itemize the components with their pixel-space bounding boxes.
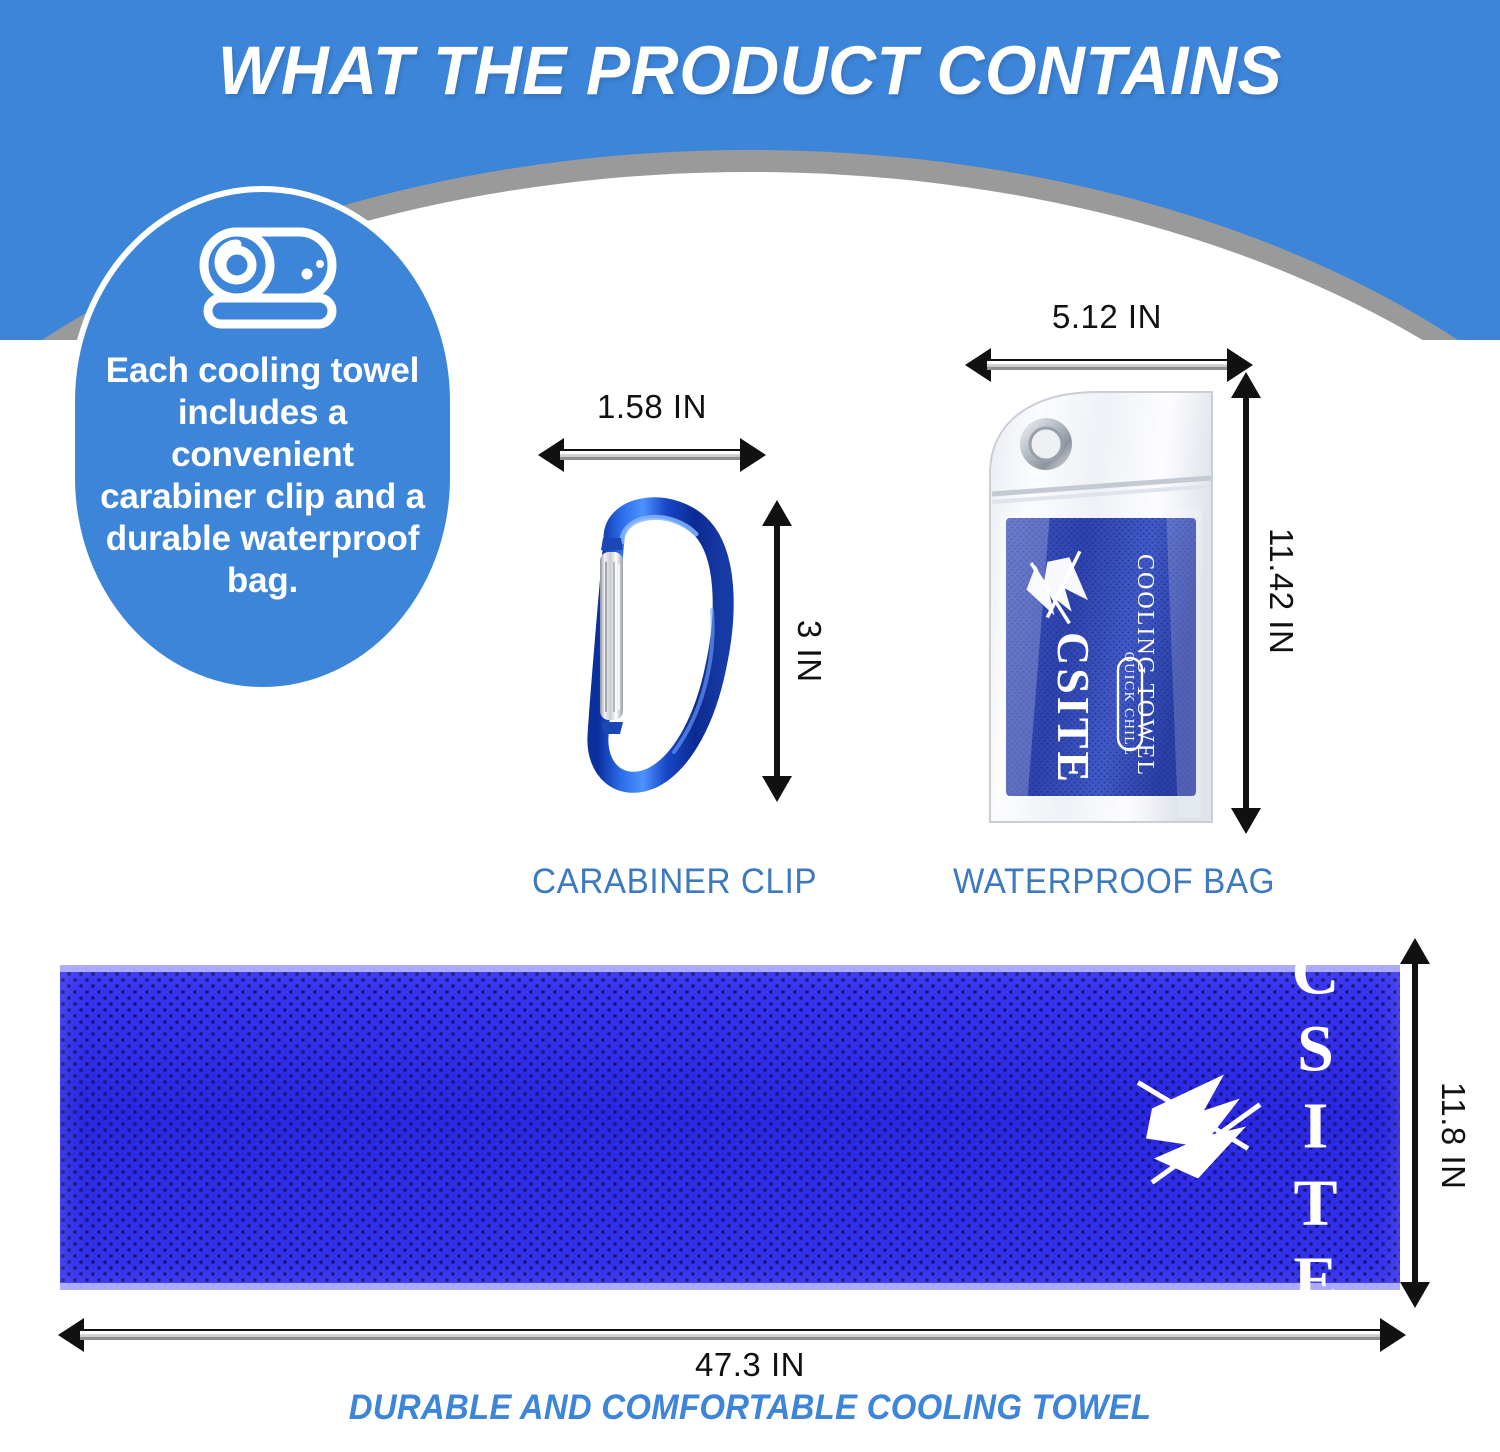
towel-brand-text: CSITE (1282, 935, 1348, 1320)
bottom-caption: DURABLE AND COMFORTABLE COOLING TOWEL (45, 1388, 1455, 1428)
carabiner-width-label: 1.58 IN (597, 388, 707, 426)
page-title: WHAT THE PRODUCT CONTAINS (30, 36, 1470, 105)
rolled-towel-icon (179, 222, 347, 334)
carabiner-width-arrow (538, 438, 766, 472)
towel-height-arrow (1400, 938, 1430, 1308)
bag-width-label: 5.12 IN (1052, 298, 1162, 336)
csite-swoosh-logo: CSITE (1128, 935, 1348, 1320)
feature-badge: Each cooling towel includes a convenient… (75, 192, 450, 687)
svg-text:CSITE: CSITE (1048, 632, 1099, 785)
carabiner-height-label: 3 IN (790, 620, 828, 683)
cooling-towel-image: CSITE (60, 965, 1400, 1290)
bag-height-label: 11.42 IN (1262, 528, 1300, 654)
bag-width-arrow (965, 348, 1253, 382)
towel-height-label: 11.8 IN (1434, 1082, 1472, 1189)
waterproof-bag-caption: WATERPROOF BAG (953, 862, 1275, 902)
badge-text: Each cooling towel includes a convenient… (98, 350, 428, 602)
carabiner-clip-image (556, 490, 756, 800)
carabiner-height-arrow (762, 500, 792, 802)
svg-text:QUICK CHILL: QUICK CHILL (1121, 652, 1136, 756)
product-infographic: WHAT THE PRODUCT CONTAINS Each cooling t… (0, 0, 1500, 1452)
waterproof-bag-image: CSITE COOLING TOWEL QUICK CHILL (980, 382, 1225, 832)
towel-width-label: 47.3 IN (0, 1346, 1500, 1384)
carabiner-caption: CARABINER CLIP (532, 862, 817, 902)
bag-height-arrow (1231, 372, 1261, 834)
